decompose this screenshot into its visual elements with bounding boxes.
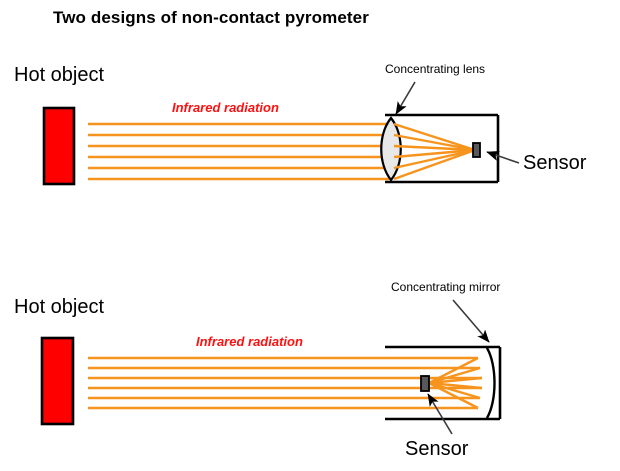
leader-arrow-sensor-top (487, 152, 519, 163)
concentrating-mirror (487, 348, 495, 418)
leader-arrow-lens (396, 82, 415, 114)
leader-arrow-sensor-bottom (428, 394, 452, 434)
sensor-element-top (473, 143, 480, 157)
converging-rays-top (394, 124, 475, 179)
hot-object-block-bottom (42, 338, 73, 424)
top-diagram-group (44, 82, 519, 184)
infrared-rays-top (88, 124, 389, 179)
sensor-element-bottom (421, 376, 429, 391)
reflected-rays-bottom (429, 358, 482, 408)
figure-canvas: Two designs of non-contact pyrometer Hot… (0, 0, 620, 471)
bottom-diagram-group (42, 300, 500, 434)
leader-arrow-mirror (453, 300, 489, 342)
concentrating-lens (381, 118, 401, 180)
hot-object-block-top (44, 108, 74, 184)
